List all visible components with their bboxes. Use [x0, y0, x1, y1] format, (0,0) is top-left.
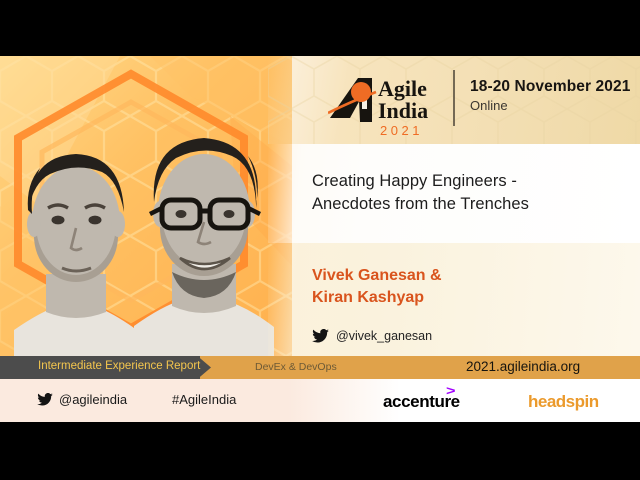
speaker-twitter-row[interactable]: @vivek_ganesan — [312, 329, 432, 343]
speaker-names: Vivek Ganesan & Kiran Kashyap — [312, 265, 630, 309]
conference-hashtag: #AgileIndia — [172, 392, 236, 407]
conference-twitter-row[interactable]: @agileindia — [37, 392, 127, 407]
experience-level-label: Intermediate Experience Report — [38, 360, 200, 372]
slide-footer: @agileindia #AgileIndia accenture > head… — [0, 379, 640, 422]
talk-title-panel: Creating Happy Engineers - Anecdotes fro… — [268, 144, 640, 243]
track-label: DevEx & DevOps — [255, 361, 337, 373]
speaker-info-panel: Vivek Ganesan & Kiran Kashyap @vivek_gan… — [268, 243, 640, 356]
speaker-twitter-handle: @vivek_ganesan — [336, 329, 432, 343]
slide-header: Agile India 2021 18-20 November 2021 Onl… — [268, 56, 640, 144]
talk-title: Creating Happy Engineers - Anecdotes fro… — [312, 170, 622, 217]
headspin-logo: headspin — [528, 392, 599, 412]
speaker-name-line-2: Kiran Kashyap — [312, 287, 630, 309]
svg-text:2021: 2021 — [380, 123, 423, 138]
conference-slide: Agile India 2021 18-20 November 2021 Onl… — [0, 56, 640, 422]
header-divider — [453, 70, 455, 126]
speaker-portraits — [0, 106, 292, 356]
talk-title-line-2: Anecdotes from the Trenches — [312, 193, 622, 216]
twitter-icon — [312, 329, 329, 343]
speaker-portrait-right — [128, 112, 280, 356]
conference-url[interactable]: 2021.agileindia.org — [466, 359, 580, 374]
twitter-icon — [37, 393, 53, 406]
accenture-chevron-icon: > — [446, 383, 455, 398]
video-frame: Agile India 2021 18-20 November 2021 Onl… — [0, 0, 640, 480]
conference-twitter-handle: @agileindia — [59, 392, 127, 407]
talk-metadata-bar: Intermediate Experience Report DevEx & D… — [0, 356, 640, 379]
speaker-portrait-left — [6, 124, 146, 356]
talk-title-line-1: Creating Happy Engineers - — [312, 170, 622, 193]
event-dates: 18-20 November 2021 — [470, 78, 630, 96]
agile-india-2021-logo: Agile India 2021 — [328, 66, 438, 138]
speaker-name-line-1: Vivek Ganesan & — [312, 265, 630, 287]
event-mode: Online — [470, 98, 630, 113]
svg-text:India: India — [378, 98, 428, 123]
speaker-photo-panel — [0, 56, 292, 356]
header-event-info: 18-20 November 2021 Online — [470, 78, 630, 113]
